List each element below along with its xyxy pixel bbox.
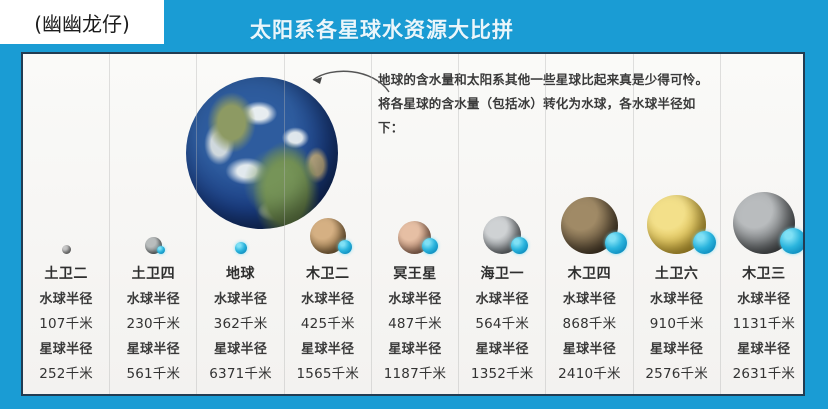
planet-label-block: 木卫二水球半径425千米星球半径1565千米: [285, 256, 371, 396]
planet-label-block: 木卫四水球半径868千米星球半径2410千米: [546, 256, 632, 396]
water-radius-value: 868千米: [546, 312, 632, 337]
water-sphere-icon: [235, 242, 247, 254]
planet-label-block: 土卫二水球半径107千米星球半径252千米: [23, 256, 109, 396]
planet-illustration: [721, 54, 805, 256]
water-sphere-icon: [780, 228, 805, 254]
water-sphere-icon: [511, 237, 528, 254]
planet-column: 冥王星水球半径487千米星球半径1187千米: [371, 54, 458, 396]
water-radius-value: 564千米: [459, 312, 545, 337]
planet-illustration: [23, 54, 109, 256]
water-radius-label: 水球半径: [372, 287, 458, 312]
planet-radius-value: 252千米: [23, 362, 109, 387]
planet-label-block: 土卫六水球半径910千米星球半径2576千米: [634, 256, 720, 396]
water-radius-value: 1131千米: [721, 312, 805, 337]
water-sphere-icon: [422, 238, 438, 254]
planet-name: 土卫二: [23, 262, 109, 287]
planet-label-block: 地球水球半径362千米星球半径6371千米: [197, 256, 283, 396]
planet-column: 木卫四水球半径868千米星球半径2410千米: [545, 54, 632, 396]
planet-radius-value: 1352千米: [459, 362, 545, 387]
planet-illustration: [634, 54, 720, 256]
planet-sphere-icon: [733, 192, 795, 254]
planet-column: 海卫一水球半径564千米星球半径1352千米: [458, 54, 545, 396]
planet-label-block: 土卫四水球半径230千米星球半径561千米: [110, 256, 196, 396]
water-radius-label: 水球半径: [285, 287, 371, 312]
water-radius-label: 水球半径: [197, 287, 283, 312]
planet-radius-label: 星球半径: [721, 337, 805, 362]
planet-radius-value: 2631千米: [721, 362, 805, 387]
water-radius-label: 水球半径: [459, 287, 545, 312]
planet-name: 土卫六: [634, 262, 720, 287]
water-radius-value: 910千米: [634, 312, 720, 337]
planet-illustration: [285, 54, 371, 256]
planet-column: 木卫三水球半径1131千米星球半径2631千米: [720, 54, 805, 396]
planet-radius-label: 星球半径: [285, 337, 371, 362]
water-radius-label: 水球半径: [546, 287, 632, 312]
infographic-root: (幽幽龙仔) 太阳系各星球水资源大比拼 地球的含水量和太阳系其他一些星球比起来真…: [0, 0, 828, 409]
water-radius-value: 487千米: [372, 312, 458, 337]
planet-radius-value: 561千米: [110, 362, 196, 387]
planet-illustration: [372, 54, 458, 256]
water-radius-label: 水球半径: [721, 287, 805, 312]
planet-name: 海卫一: [459, 262, 545, 287]
planet-column: 土卫六水球半径910千米星球半径2576千米: [633, 54, 720, 396]
planet-sphere-icon: [62, 245, 71, 254]
water-radius-value: 362千米: [197, 312, 283, 337]
planet-radius-label: 星球半径: [634, 337, 720, 362]
planet-radius-label: 星球半径: [197, 337, 283, 362]
water-radius-value: 425千米: [285, 312, 371, 337]
planet-radius-label: 星球半径: [546, 337, 632, 362]
planet-sphere-icon: [398, 221, 431, 254]
planet-illustration: [110, 54, 196, 256]
planet-name: 木卫三: [721, 262, 805, 287]
planet-radius-label: 星球半径: [372, 337, 458, 362]
planet-sphere-icon: [561, 197, 618, 254]
planet-radius-value: 2576千米: [634, 362, 720, 387]
water-radius-value: 230千米: [110, 312, 196, 337]
planet-radius-value: 2410千米: [546, 362, 632, 387]
page-title: 太阳系各星球水资源大比拼: [250, 14, 514, 44]
planet-illustration: [197, 54, 283, 256]
planet-radius-label: 星球半径: [23, 337, 109, 362]
watermark-text: (幽幽龙仔): [34, 8, 130, 37]
water-sphere-icon: [338, 240, 352, 254]
water-sphere-icon: [605, 232, 627, 254]
planet-column: 土卫二水球半径107千米星球半径252千米: [23, 54, 109, 396]
planet-illustration: [459, 54, 545, 256]
planet-radius-label: 星球半径: [459, 337, 545, 362]
planet-name: 地球: [197, 262, 283, 287]
planet-radius-value: 1565千米: [285, 362, 371, 387]
planet-column: 地球水球半径362千米星球半径6371千米: [196, 54, 283, 396]
planet-name: 土卫四: [110, 262, 196, 287]
planet-column-list: 土卫二水球半径107千米星球半径252千米土卫四水球半径230千米星球半径561…: [23, 54, 805, 396]
planet-sphere-icon: [647, 195, 706, 254]
watermark-badge: (幽幽龙仔): [0, 0, 164, 44]
planet-illustration: [546, 54, 632, 256]
planet-radius-value: 1187千米: [372, 362, 458, 387]
planet-label-block: 木卫三水球半径1131千米星球半径2631千米: [721, 256, 805, 396]
planet-name: 木卫二: [285, 262, 371, 287]
water-radius-label: 水球半径: [110, 287, 196, 312]
water-sphere-icon: [693, 231, 716, 254]
planet-sphere-icon: [483, 216, 521, 254]
content-card: 地球的含水量和太阳系其他一些星球比起来真是少得可怜。 将各星球的含水量（包括冰）…: [21, 52, 805, 396]
planet-sphere-icon: [310, 218, 346, 254]
water-radius-label: 水球半径: [23, 287, 109, 312]
planet-label-block: 冥王星水球半径487千米星球半径1187千米: [372, 256, 458, 396]
water-radius-label: 水球半径: [634, 287, 720, 312]
planet-name: 木卫四: [546, 262, 632, 287]
planet-radius-value: 6371千米: [197, 362, 283, 387]
planet-label-block: 海卫一水球半径564千米星球半径1352千米: [459, 256, 545, 396]
water-radius-value: 107千米: [23, 312, 109, 337]
planet-column: 土卫四水球半径230千米星球半径561千米: [109, 54, 196, 396]
water-sphere-icon: [157, 246, 165, 254]
planet-column: 木卫二水球半径425千米星球半径1565千米: [284, 54, 371, 396]
planet-radius-label: 星球半径: [110, 337, 196, 362]
planet-name: 冥王星: [372, 262, 458, 287]
planet-sphere-icon: [145, 237, 162, 254]
